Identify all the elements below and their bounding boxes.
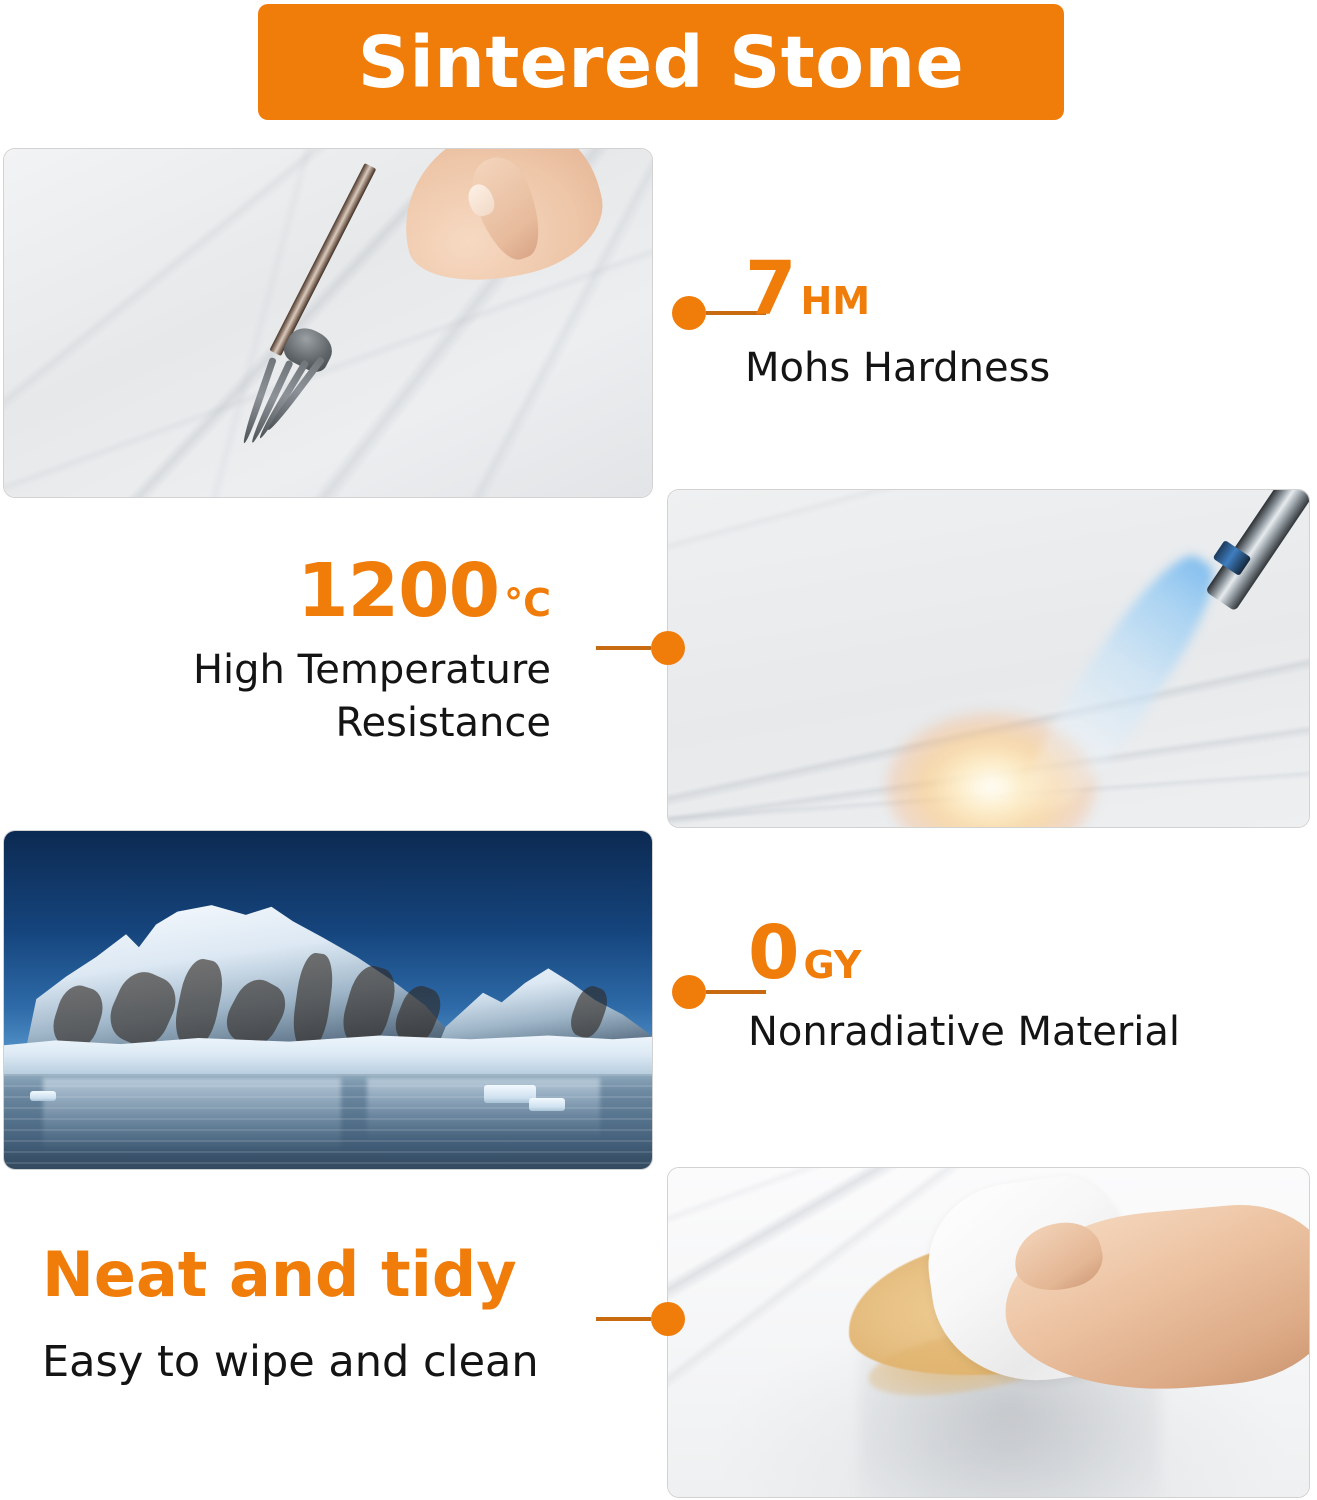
antarctic-landscape-photo <box>3 830 653 1170</box>
feature-mohs-hardness: 7 HM Mohs Hardness <box>745 252 1050 395</box>
feature-value: 1200 °C <box>193 554 551 628</box>
feature-description-line-1: High Temperature <box>193 644 551 697</box>
iceberg <box>529 1098 565 1111</box>
flame-test-photo <box>667 489 1310 828</box>
feature-nonradiative-material: 0 GY Nonradiative Material <box>748 916 1180 1059</box>
feature-value: 7 HM <box>745 252 1050 326</box>
feature-description: Nonradiative Material <box>748 1006 1180 1059</box>
header-banner: Sintered Stone <box>258 4 1064 120</box>
water-reflection <box>43 1078 341 1152</box>
feature-headline: Neat and tidy <box>42 1244 539 1306</box>
scratch-test-photo <box>3 148 653 498</box>
page-title: Sintered Stone <box>358 27 964 98</box>
connector-neat-and-tidy <box>596 1302 685 1336</box>
feature-description: Easy to wipe and clean <box>42 1334 539 1391</box>
feature-value: 0 GY <box>748 916 1180 990</box>
feature-value-unit: °C <box>504 584 551 622</box>
connector-line <box>596 1317 651 1321</box>
feature-value-unit: GY <box>804 946 862 984</box>
bullet-dot-icon <box>672 296 706 330</box>
connector-high-temperature <box>596 631 685 665</box>
connector-line <box>596 646 651 650</box>
feature-value-number: 0 <box>748 916 799 990</box>
bullet-dot-icon <box>651 631 685 665</box>
wipe-clean-photo <box>667 1167 1310 1498</box>
bullet-dot-icon <box>651 1302 685 1336</box>
feature-value-unit: HM <box>801 282 871 320</box>
iceberg <box>484 1085 536 1103</box>
feature-description-line-2: Resistance <box>193 697 551 750</box>
feature-description: Mohs Hardness <box>745 342 1050 395</box>
feature-value-number: 7 <box>745 252 796 326</box>
feature-neat-and-tidy: Neat and tidy Easy to wipe and clean <box>42 1244 539 1391</box>
bullet-dot-icon <box>672 975 706 1009</box>
iceberg <box>30 1091 56 1101</box>
feature-value-number: 1200 <box>297 554 499 628</box>
feature-high-temperature-resistance: 1200 °C High Temperature Resistance <box>193 554 551 750</box>
